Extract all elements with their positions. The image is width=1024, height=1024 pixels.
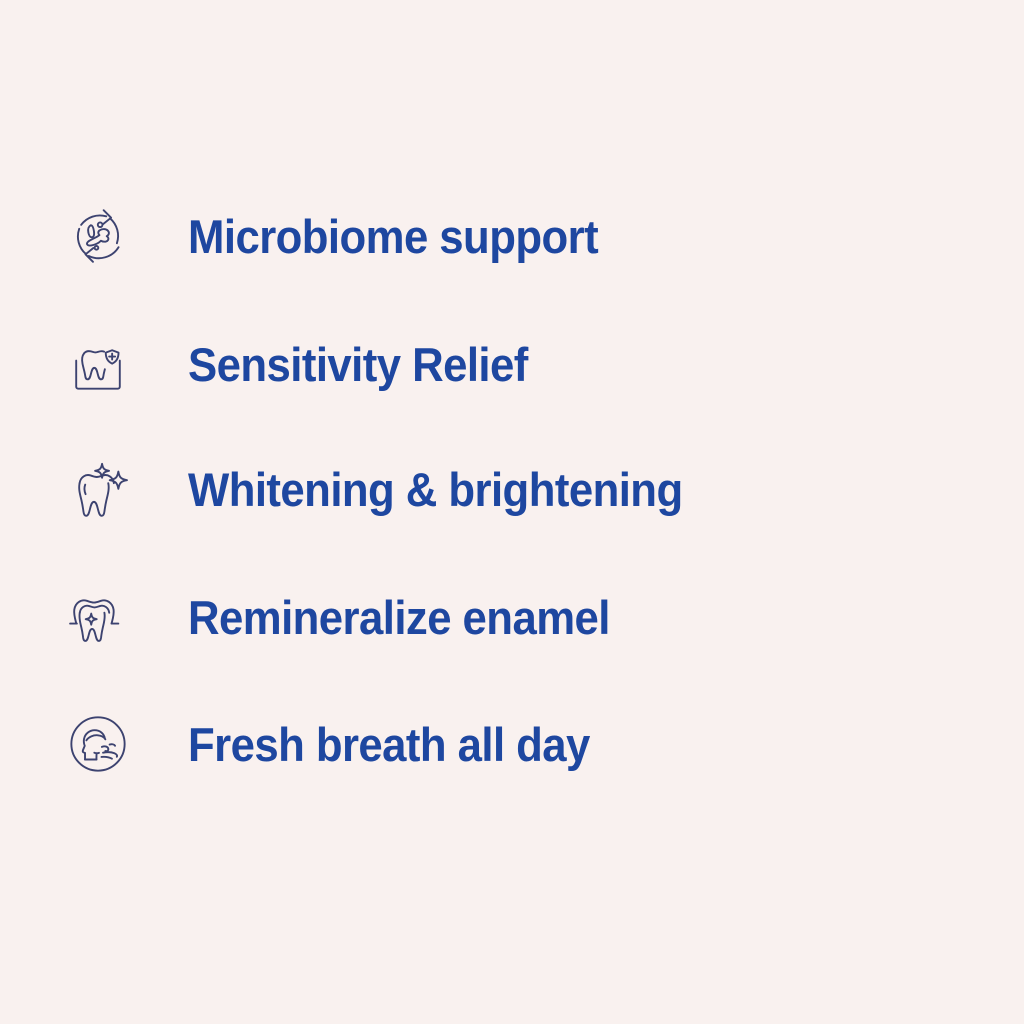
tooth-gum-shield-icon: [62, 328, 134, 400]
list-item-label: Sensitivity Relief: [188, 341, 528, 388]
fresh-breath-head-icon: [62, 708, 134, 780]
list-item: Remineralize enamel: [62, 574, 982, 660]
list-item-label: Remineralize enamel: [188, 594, 610, 641]
list-item: Microbiome support: [62, 193, 982, 279]
list-item-label: Fresh breath all day: [188, 721, 590, 768]
list-item-label: Microbiome support: [188, 213, 598, 260]
list-item: Fresh breath all day: [62, 701, 982, 787]
tooth-enamel-shield-icon: [62, 581, 134, 653]
list-item-label: Whitening & brightening: [188, 466, 683, 513]
list-item: Sensitivity Relief: [62, 321, 982, 407]
benefits-list: Microbiome support Sensitivity Relief: [0, 0, 1024, 1024]
tooth-sparkles-icon: [62, 453, 134, 525]
list-item: Whitening & brightening: [62, 446, 982, 532]
microbiome-cycle-icon: [62, 200, 134, 272]
